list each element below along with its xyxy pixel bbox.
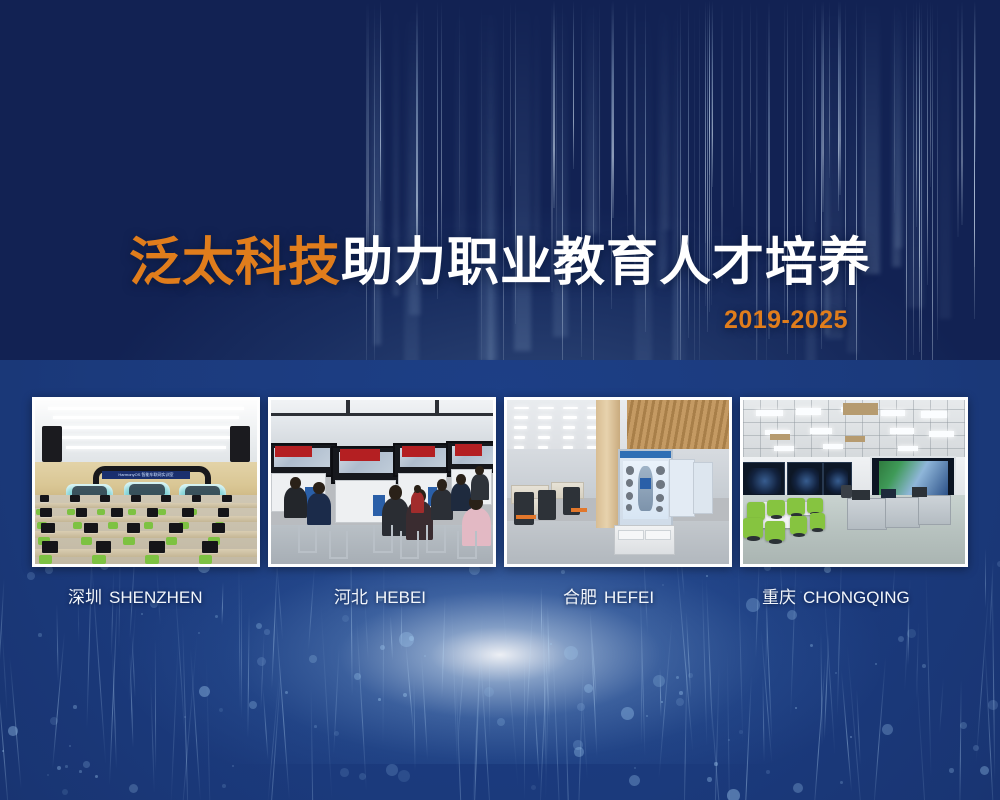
caption-shenzhen: 深圳SHENZHEN — [68, 583, 203, 608]
caption-shenzhen-zh: 深圳 — [68, 588, 102, 607]
gallery-card-shenzhen[interactable]: HarmonyOS 智能车联网实训室 — [32, 397, 260, 567]
photo-captions: 深圳SHENZHEN 河北HEBEI 合肥HEFEI 重庆CHONGQING — [32, 583, 968, 609]
title-tagline: 助力职业教育人才培养 — [341, 234, 871, 292]
poster-subtitle-years: 2019-2025 — [724, 306, 848, 335]
caption-hebei-en: HEBEI — [375, 588, 426, 607]
caption-hefei-en: HEFEI — [604, 588, 654, 607]
gallery-card-hefei[interactable] — [504, 397, 732, 567]
caption-hefei-zh: 合肥 — [563, 588, 597, 607]
gallery-card-chongqing[interactable] — [740, 397, 968, 567]
caption-chongqing-zh: 重庆 — [762, 588, 796, 607]
gallery-card-hebei[interactable] — [268, 397, 496, 567]
caption-hefei: 合肥HEFEI — [563, 583, 654, 608]
caption-shenzhen-en: SHENZHEN — [109, 588, 203, 607]
caption-hebei: 河北HEBEI — [334, 583, 426, 608]
poster-banner: 泛太科技助力职业教育人才培养 2019-2025 HarmonyOS 智能车联网… — [0, 0, 1000, 800]
caption-chongqing-en: CHONGQING — [803, 588, 910, 607]
title-brand: 泛太科技 — [129, 234, 341, 292]
shenzhen-classroom-photo: HarmonyOS 智能车联网实训室 — [35, 400, 257, 564]
hefei-lab-photo — [507, 400, 729, 564]
chongqing-smart-classroom-photo — [743, 400, 965, 564]
caption-chongqing: 重庆CHONGQING — [762, 583, 910, 608]
poster-title: 泛太科技助力职业教育人才培养 — [0, 232, 1000, 294]
caption-hebei-zh: 河北 — [334, 588, 368, 607]
hebei-training-lab-photo — [271, 400, 493, 564]
photo-strip: HarmonyOS 智能车联网实训室 — [32, 397, 968, 567]
